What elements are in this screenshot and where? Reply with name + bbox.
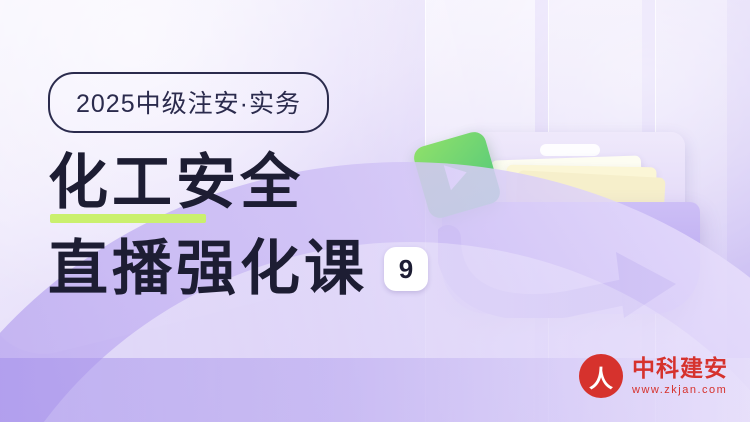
logo-text-group: 中科建安 www.zkjan.com xyxy=(632,356,728,396)
folder-tab xyxy=(540,144,600,156)
headline-line-2-row: 直播强化课 9 xyxy=(48,234,428,304)
headline-line-1: 化工安全 xyxy=(48,149,304,216)
course-banner: 2025中级注安·实务 化工安全 直播强化课 9 人 中科建安 www.zkja… xyxy=(0,0,750,422)
logo-website: www.zkjan.com xyxy=(632,384,728,396)
headline-line-2: 直播强化课 xyxy=(48,234,368,304)
course-subtitle-badge: 2025中级注安·实务 xyxy=(48,72,329,133)
episode-number-badge: 9 xyxy=(384,247,428,291)
logo-mark-icon: 人 xyxy=(579,354,623,398)
headline-line-1-wrapper: 化工安全 xyxy=(48,148,428,218)
brand-logo: 人 中科建安 www.zkjan.com xyxy=(579,354,728,398)
logo-brand-name: 中科建安 xyxy=(632,356,728,381)
headline-group: 化工安全 直播强化课 9 xyxy=(48,148,428,304)
